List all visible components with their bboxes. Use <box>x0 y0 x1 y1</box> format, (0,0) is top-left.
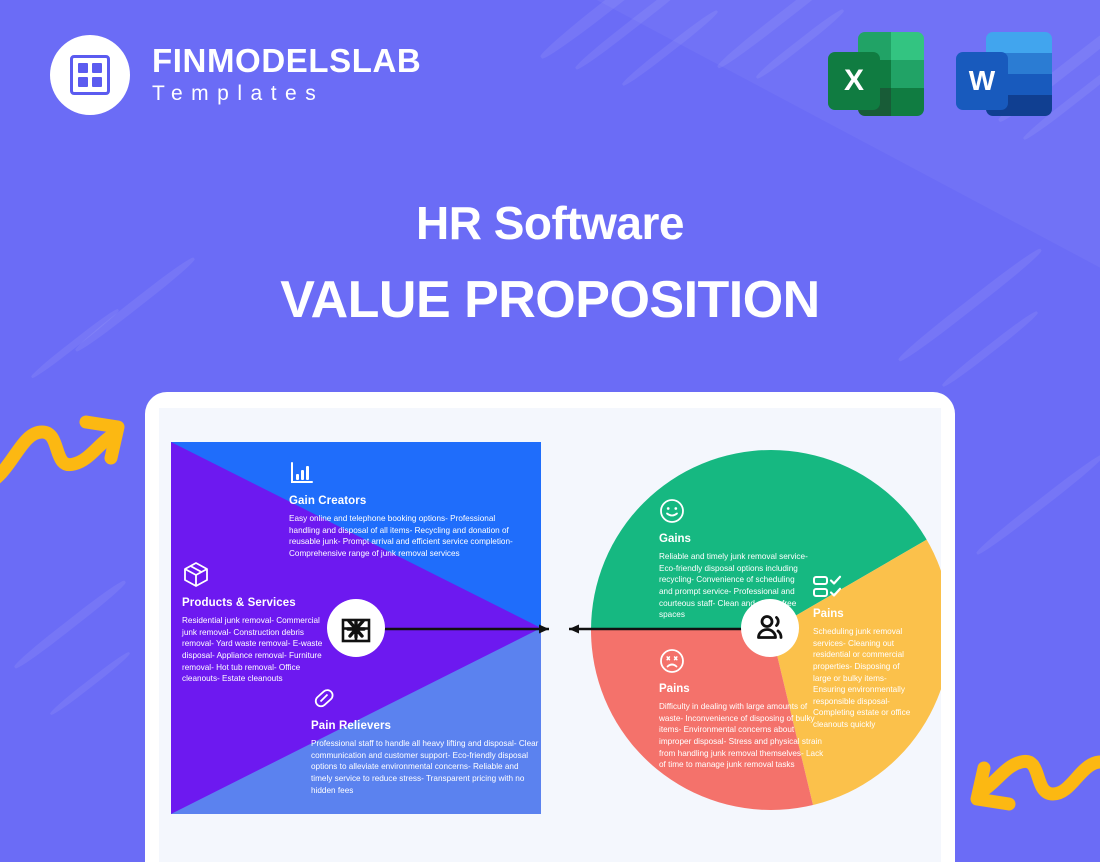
squiggly-arrow-down-left-icon <box>965 748 1100 842</box>
segment-body: Scheduling junk removal services- Cleani… <box>813 626 917 731</box>
segment-title: Pains <box>813 608 917 620</box>
smiley-happy-icon <box>659 498 685 524</box>
excel-icon[interactable]: X <box>828 28 924 120</box>
title-line-2: VALUE PROPOSITION <box>0 270 1100 330</box>
pill-icon <box>311 685 337 711</box>
squiggly-arrow-up-right-icon <box>0 408 130 498</box>
brand-name: FINMODELSLAB <box>152 44 421 79</box>
segment-block-pains[interactable]: Pains Difficulty in dealing with large a… <box>659 648 825 771</box>
customer-profile-center-badge[interactable] <box>741 599 799 657</box>
grid-icon <box>70 55 110 95</box>
quadrant-body: Professional staff to handle all heavy l… <box>311 738 541 796</box>
title-line-1: HR Software <box>0 196 1100 250</box>
value-map-center-badge[interactable] <box>327 599 385 657</box>
page-header: FINMODELSLAB Templates X W <box>0 0 1100 150</box>
segment-block-gains[interactable]: Gains Reliable and timely junk removal s… <box>659 498 809 621</box>
segment-title: Pains <box>659 683 825 695</box>
segment-body: Difficulty in dealing with large amounts… <box>659 701 825 771</box>
quadrant-gain-creators[interactable]: Gain Creators Easy online and telephone … <box>289 460 527 560</box>
quadrant-title: Gain Creators <box>289 495 527 507</box>
bar-chart-icon <box>289 460 315 486</box>
page-title: HR Software VALUE PROPOSITION <box>0 196 1100 330</box>
quadrant-title: Products & Services <box>182 597 332 609</box>
slide-canvas: Gain Creators Easy online and telephone … <box>159 408 941 862</box>
device-mockup: Gain Creators Easy online and telephone … <box>145 392 955 862</box>
quadrant-title: Pain Relievers <box>311 720 541 732</box>
segment-title: Gains <box>659 533 809 545</box>
logo-circle <box>50 35 130 115</box>
brand-subtitle: Templates <box>152 82 421 106</box>
brand-logo[interactable]: FINMODELSLAB Templates <box>50 35 421 115</box>
word-icon[interactable]: W <box>956 28 1052 120</box>
package-box-icon <box>182 560 210 588</box>
users-icon <box>753 611 787 645</box>
checklist-icon <box>813 575 843 599</box>
gift-icon <box>339 611 373 645</box>
quadrant-body: Residential junk removal- Commercial jun… <box>182 615 332 685</box>
format-icons: X W <box>828 28 1052 120</box>
word-icon-letter: W <box>956 52 1008 110</box>
double-headed-arrow-icon <box>363 622 755 636</box>
excel-icon-letter: X <box>828 52 880 110</box>
quadrant-body: Easy online and telephone booking option… <box>289 513 527 560</box>
quadrant-products-services[interactable]: Products & Services Residential junk rem… <box>182 560 332 685</box>
quadrant-pain-relievers[interactable]: Pain Relievers Professional staff to han… <box>311 685 541 796</box>
smiley-sad-icon <box>659 648 685 674</box>
segment-block-pains-tasks[interactable]: Pains Scheduling junk removal services- … <box>813 575 917 731</box>
